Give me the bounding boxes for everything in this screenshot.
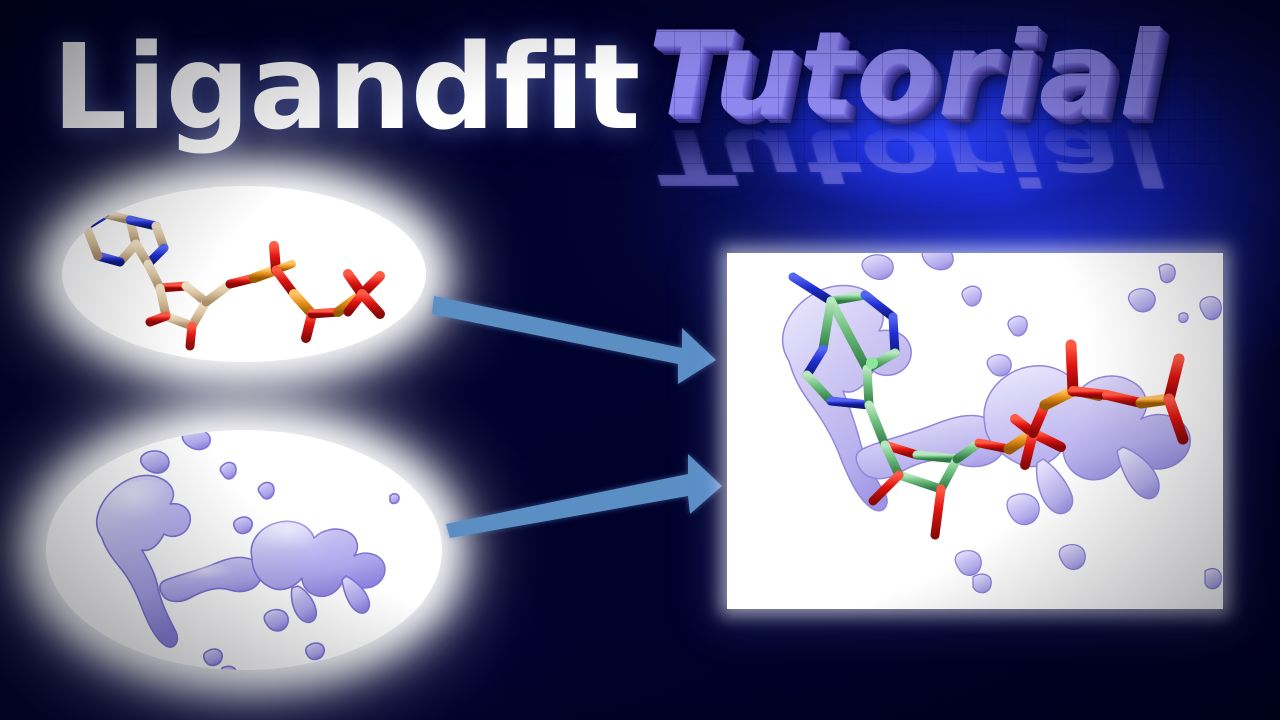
ligand-clip: [62, 186, 426, 362]
arrow-ligand-to-result: [430, 288, 720, 384]
slide-canvas: Tutorial Tutorial Ligandfit: [0, 0, 1280, 720]
fitted-result-panel: [727, 253, 1223, 609]
tutorial-wordart: Tutorial Tutorial: [648, 14, 1228, 254]
electron-density-ellipse: [46, 430, 442, 670]
density-clip: [46, 430, 442, 670]
result-clip: [727, 253, 1223, 609]
density-isosurface-diagram: [46, 430, 442, 670]
page-title: Ligandfit: [52, 22, 652, 152]
fitted-ligand-in-density: [727, 253, 1223, 609]
tutorial-text: Tutorial: [648, 14, 1228, 136]
ligand-structure-ellipse: [62, 186, 426, 362]
ligand-molecule-diagram: [62, 186, 426, 362]
arrow-density-to-result: [444, 452, 724, 538]
